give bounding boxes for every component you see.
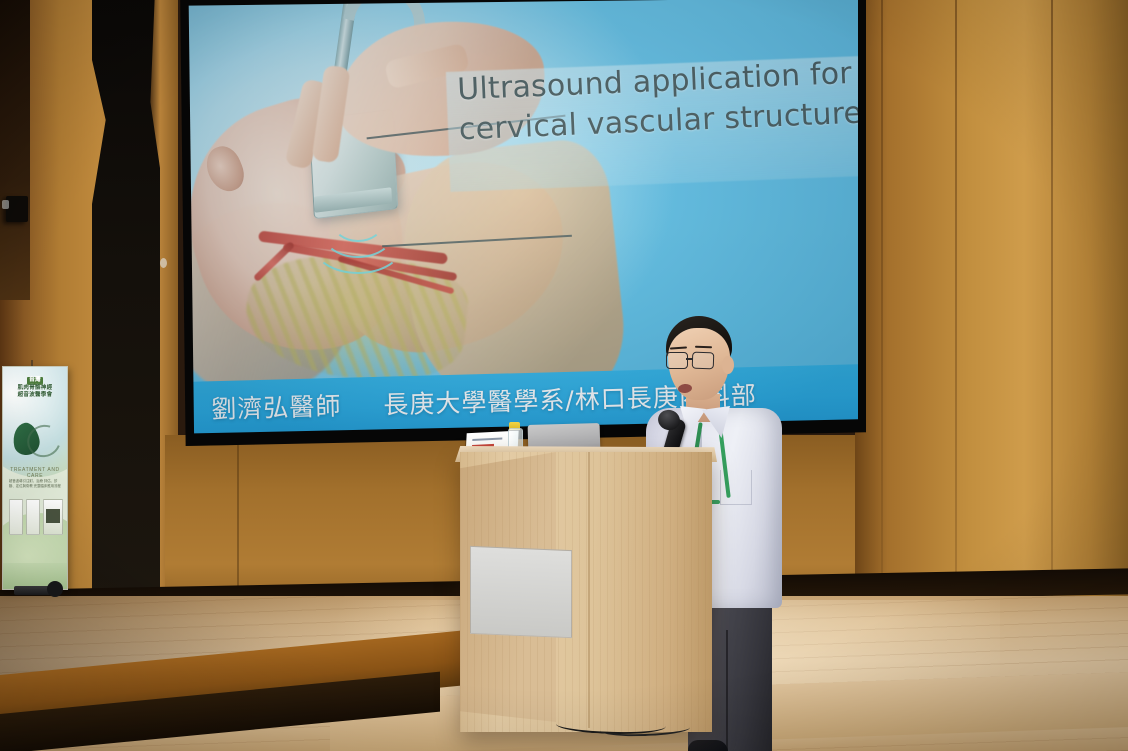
banner-org-mark: 台灣 [27,377,43,385]
banner-tagline: TREATMENT AND CARE [7,467,63,479]
slide-title: Ultrasound application for cervical vasc… [457,54,858,151]
banner-icon-1 [9,499,23,535]
eyeglasses-icon [692,352,715,370]
banner-body-text: 超音波導引注射、治療 評估、診斷、定位與衛教 完整臨床應用流程 [9,479,61,489]
auditorium-scene: Ultrasound application for cervical vasc… [0,0,1128,751]
neck-ultrasound-illustration [186,0,546,396]
banner-icon-3 [43,499,63,535]
presenter-shoe-back [688,740,728,751]
podium-corner-seam [588,452,590,728]
banner-heading: 台灣 肌肉骨骼神經 超音波醫學會 [7,377,63,400]
left-wall-shadow [0,0,30,300]
banner-base-foot [47,581,63,597]
banner-logo-icon [11,419,59,459]
banner-icon-2 [26,499,40,535]
eyeglasses-icon [666,352,688,369]
right-wall [855,0,1128,660]
presenter-ear [722,356,734,374]
banner-org-line-1: 肌肉骨骼神經 [7,385,63,393]
alcove-knob-icon [160,258,167,268]
caption-speaker-name: 劉濟弘醫師 [211,392,342,424]
caption-affiliation: 長庚大學醫學系/林口長庚 [383,383,679,420]
banner-icon-row [9,499,63,535]
podium-front-panel [470,546,572,638]
banner-org-line-2: 超音波醫學會 [7,392,63,400]
eyeglasses-bridge [686,358,693,360]
rollup-banner: 台灣 肌肉骨骼神經 超音波醫學會 TREATMENT AND CARE 超音波導… [2,366,68,590]
wall-light-fixture-icon [6,196,28,222]
presenter-leg-seam [726,630,728,751]
